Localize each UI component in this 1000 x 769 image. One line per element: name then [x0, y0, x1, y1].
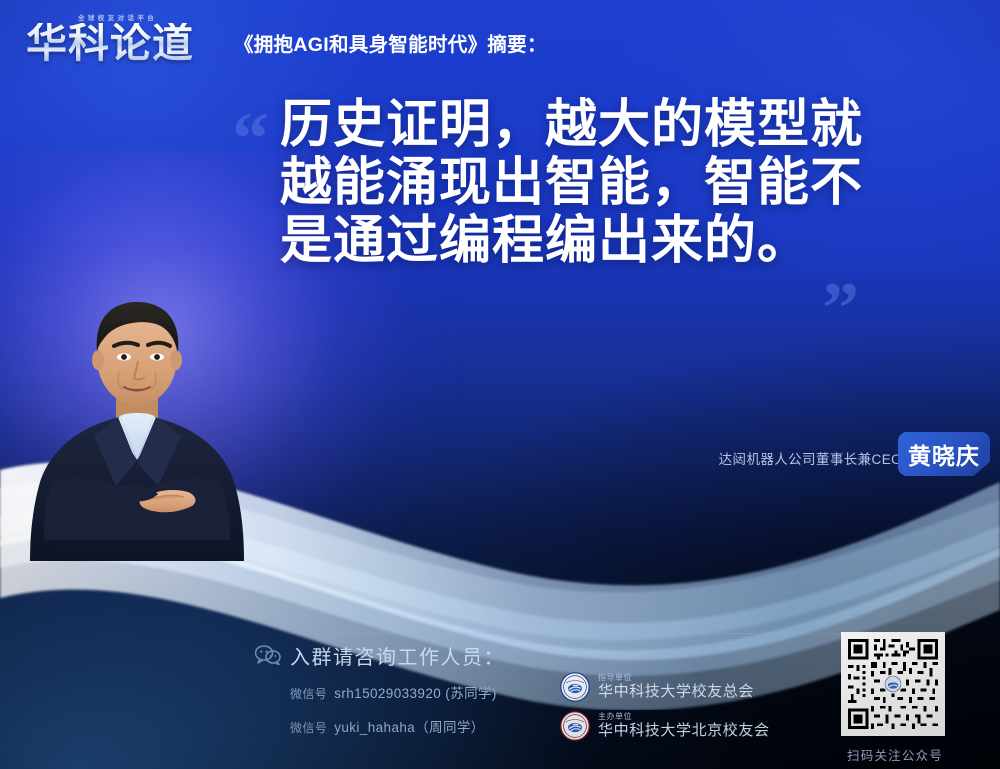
hust-seal-icon	[560, 711, 590, 741]
speaker-name-badge: 黄晓庆	[898, 432, 990, 476]
qr-code-icon[interactable]	[841, 632, 945, 736]
contact-label: 微信号	[290, 721, 327, 735]
quote-line: 历史证明，越大的模型就	[280, 96, 940, 154]
contact-row: 微信号yuki_hahaha（周同学）	[290, 716, 485, 736]
quote-line: 是通过编程编出来的。	[280, 212, 940, 270]
organization-row: 主办单位 华中科技大学北京校友会	[560, 711, 770, 741]
close-quote-mark: ”	[822, 272, 859, 346]
header: 全球校友对话平台 华科论道 《拥抱AGI和具身智能时代》摘要：	[26, 14, 547, 64]
organization-name: 华中科技大学北京校友会	[598, 723, 770, 739]
organization-row: 指导单位 华中科技大学校友总会	[560, 672, 770, 702]
organization-text: 指导单位 华中科技大学校友总会	[598, 674, 754, 700]
organization-text: 主办单位 华中科技大学北京校友会	[598, 713, 770, 739]
organization-kind: 主办单位	[598, 713, 770, 721]
organization-list: 指导单位 华中科技大学校友总会 主办单位 华中科技大学北京校友会	[560, 672, 770, 750]
quote-line: 越能涌现出智能，智能不	[280, 154, 940, 212]
contact-value[interactable]: srh15029033920 (苏同学)	[334, 686, 497, 701]
qr-block: 扫码关注公众号	[841, 632, 949, 764]
footer-heading: 入群请咨询工作人员：	[290, 641, 505, 670]
logo-wordmark: 华科论道	[26, 23, 218, 64]
speaker-role: 达闼机器人公司董事长兼CEO	[719, 448, 902, 468]
qr-caption: 扫码关注公众号	[841, 745, 949, 764]
quote-text: 历史证明，越大的模型就 越能涌现出智能，智能不 是通过编程编出来的。	[280, 96, 940, 270]
contact-value[interactable]: yuki_hahaha（周同学）	[334, 720, 484, 735]
wechat-icon	[255, 645, 281, 665]
open-quote-mark: “	[232, 102, 269, 176]
speaker-portrait	[24, 286, 250, 561]
organization-name: 华中科技大学校友总会	[598, 684, 754, 700]
organization-kind: 指导单位	[598, 674, 754, 682]
page-title: 《拥抱AGI和具身智能时代》摘要：	[234, 28, 547, 64]
contact-row: 微信号srh15029033920 (苏同学)	[290, 682, 497, 702]
hust-seal-icon	[560, 672, 590, 702]
contact-label: 微信号	[290, 687, 327, 701]
brand-logo[interactable]: 全球校友对话平台 华科论道	[26, 14, 218, 64]
speaker-attribution: 达闼机器人公司董事长兼CEO 黄晓庆	[719, 448, 902, 468]
poster-canvas: 全球校友对话平台 华科论道 《拥抱AGI和具身智能时代》摘要： “ 历史证明，越…	[0, 0, 1000, 769]
